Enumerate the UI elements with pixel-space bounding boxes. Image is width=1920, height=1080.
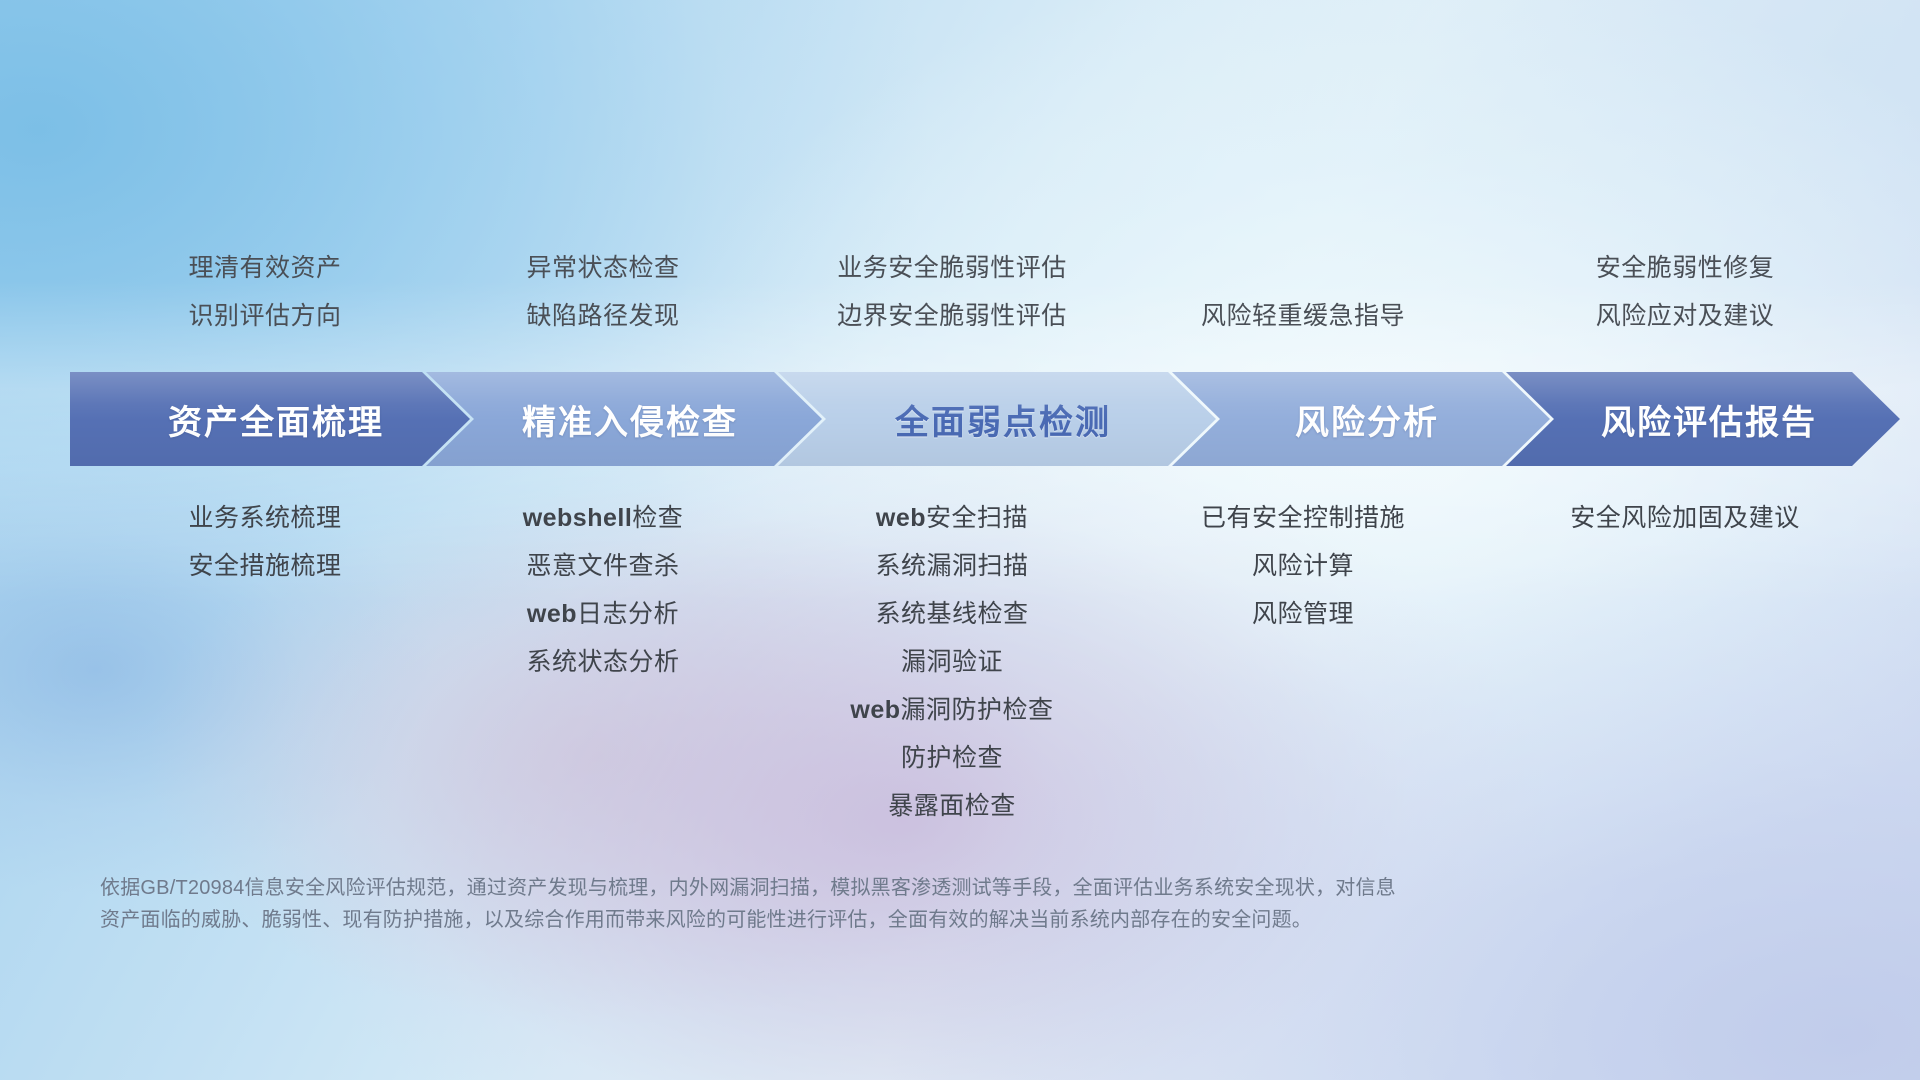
process-stage-label: 精准入侵检查 [510,395,738,444]
stage-inputs-report: 安全脆弱性修复 风险应对及建议 [1470,244,1900,340]
output-item-prefix: web [527,600,577,628]
input-item: 缺陷路径发现 [418,292,788,340]
stage-inputs-intrusion: 异常状态检查 缺陷路径发现 [418,244,788,340]
input-item: 理清有效资产 [70,244,460,292]
stage-outputs-asset: 业务系统梳理 安全措施梳理 [70,494,460,590]
output-item: 系统漏洞扫描 [742,542,1162,590]
output-item-text: 日志分析 [577,600,679,628]
input-item: 异常状态检查 [418,244,788,292]
process-stage-intrusion[interactable]: 精准入侵检查 [426,372,822,466]
output-item: 风险计算 [1138,542,1468,590]
input-item: 边界安全脆弱性评估 [742,292,1162,340]
output-item-prefix: web [876,504,926,532]
output-item-text: 防护检查 [901,744,1003,772]
output-item: 业务系统梳理 [70,494,460,542]
input-item: 识别评估方向 [70,292,460,340]
output-item: 安全措施梳理 [70,542,460,590]
output-item: 已有安全控制措施 [1138,494,1468,542]
output-item-text: 安全扫描 [926,504,1028,532]
process-stage-label: 风险分析 [1283,395,1439,444]
stage-outputs-intrusion: webshell检查 恶意文件查杀 web日志分析 系统状态分析 [418,494,788,686]
output-item-text: 风险管理 [1252,600,1354,628]
output-item: webshell检查 [418,494,788,542]
input-item: 风险轻重缓急指导 [1138,292,1468,340]
output-item-text: 漏洞验证 [901,648,1003,676]
process-stage-risk-analysis[interactable]: 风险分析 [1172,372,1550,466]
output-item: 漏洞验证 [742,638,1162,686]
output-item: 防护检查 [742,734,1162,782]
process-stage-asset[interactable]: 资产全面梳理 [70,372,470,466]
process-stage-label: 全面弱点检测 [883,395,1111,444]
output-item-text: 安全风险加固及建议 [1570,504,1800,532]
output-item: web安全扫描 [742,494,1162,542]
stage-inputs-risk-analysis: 风险轻重缓急指导 [1138,292,1468,340]
output-item: web日志分析 [418,590,788,638]
output-item-text: 安全措施梳理 [188,552,341,580]
output-item-text: 暴露面检查 [888,792,1016,820]
output-item-prefix: webshell [523,504,633,532]
slide-canvas: 理清有效资产 识别评估方向 业务系统梳理 安全措施梳理 异常状态检查 缺陷路径发… [0,0,1920,1080]
output-item: 恶意文件查杀 [418,542,788,590]
input-item: 风险应对及建议 [1470,292,1900,340]
output-item-text: 检查 [632,504,683,532]
output-item: 系统状态分析 [418,638,788,686]
output-item-text: 业务系统梳理 [188,504,341,532]
process-stage-label: 资产全面梳理 [156,395,384,444]
stage-outputs-report: 安全风险加固及建议 [1470,494,1900,542]
output-item-prefix: web [850,696,900,724]
footer-description: 依据GB/T20984信息安全风险评估规范，通过资产发现与梳理，内外网漏洞扫描，… [100,872,1720,936]
process-stage-report[interactable]: 风险评估报告 [1506,372,1900,466]
output-item-text: 已有安全控制措施 [1201,504,1405,532]
footer-line: 资产面临的威胁、脆弱性、现有防护措施，以及综合作用而带来风险的可能性进行评估，全… [100,904,1720,936]
output-item: 安全风险加固及建议 [1470,494,1900,542]
output-item: 风险管理 [1138,590,1468,638]
output-item: web漏洞防护检查 [742,686,1162,734]
process-arrow-banner: 资产全面梳理 精准入侵检查 全面弱点检测 风险分析 风险评估报告 [70,372,1900,466]
stage-outputs-risk-analysis: 已有安全控制措施 风险计算 风险管理 [1138,494,1468,638]
output-item-text: 系统漏洞扫描 [875,552,1028,580]
stage-outputs-weakness: web安全扫描 系统漏洞扫描 系统基线检查 漏洞验证 web漏洞防护检查 防护检… [742,494,1162,830]
process-stage-weakness[interactable]: 全面弱点检测 [778,372,1216,466]
output-item-text: 系统状态分析 [526,648,679,676]
output-item: 暴露面检查 [742,782,1162,830]
stage-inputs-asset: 理清有效资产 识别评估方向 [70,244,460,340]
footer-line: 依据GB/T20984信息安全风险评估规范，通过资产发现与梳理，内外网漏洞扫描，… [100,872,1720,904]
output-item-text: 恶意文件查杀 [526,552,679,580]
output-item-text: 漏洞防护检查 [901,696,1054,724]
output-item: 系统基线检查 [742,590,1162,638]
output-item-text: 风险计算 [1252,552,1354,580]
process-stage-label: 风险评估报告 [1589,395,1817,444]
output-item-text: 系统基线检查 [875,600,1028,628]
stage-inputs-weakness: 业务安全脆弱性评估 边界安全脆弱性评估 [742,244,1162,340]
input-item: 安全脆弱性修复 [1470,244,1900,292]
input-item: 业务安全脆弱性评估 [742,244,1162,292]
